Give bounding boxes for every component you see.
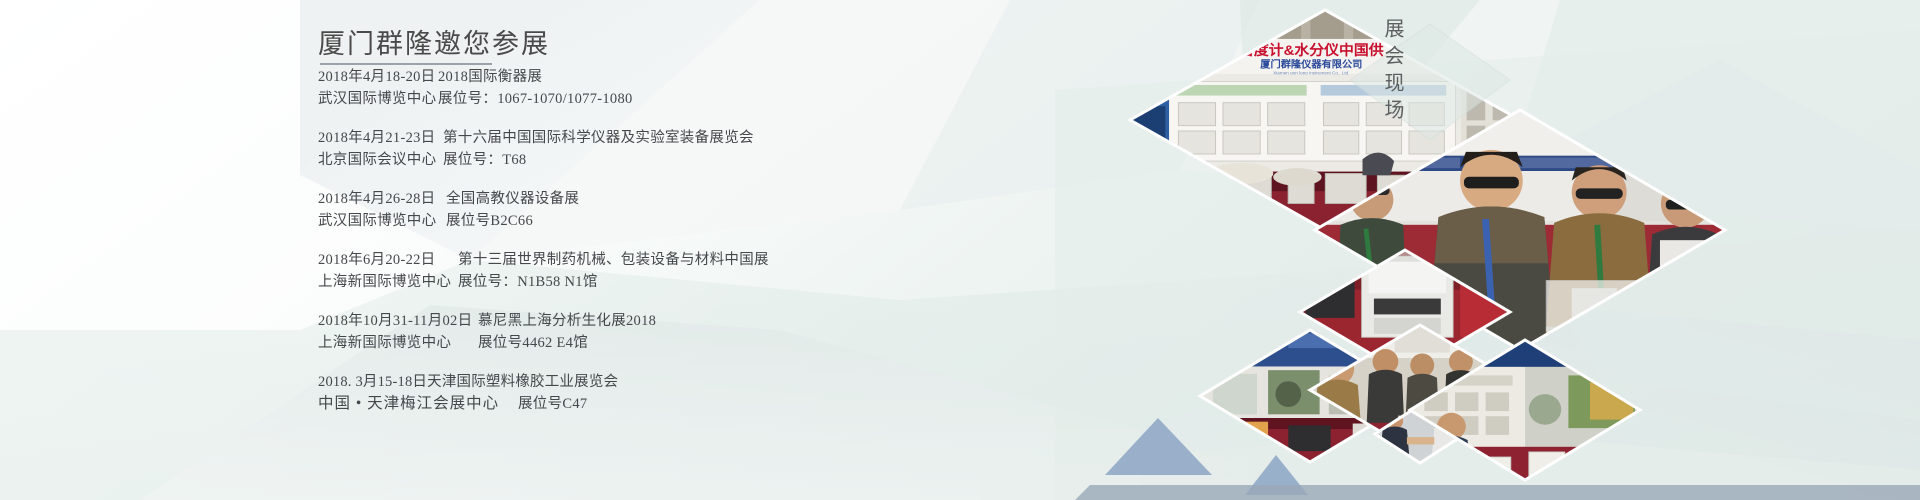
event-name: 2018国际衡器展	[438, 66, 542, 88]
event-date: 2018年10月31-11月02日	[318, 310, 478, 332]
event-date: 2018年4月21-23日	[318, 127, 443, 149]
event-name: 第十六届中国国际科学仪器及实验室装备展览会	[443, 127, 754, 149]
event-venue: 武汉国际博览中心	[318, 210, 446, 232]
event-venue: 上海新国际博览中心	[318, 271, 458, 293]
title-underline	[320, 63, 492, 65]
collage-vertical-label: 展会现场	[1378, 18, 1407, 126]
event-date: 2018年4月26-28日	[318, 188, 446, 210]
event-booth: 展位号：N1B58 N1馆	[458, 271, 598, 293]
event-booth: 展位号C47	[518, 393, 587, 415]
event-name: 慕尼黑上海分析生化展2018	[478, 310, 656, 332]
photo-collage: 展会现场 密度计&水分仪中国供	[1100, 0, 1920, 500]
event-date: 2018. 3月15-18日天津国际塑料橡胶工业展览会	[318, 371, 618, 393]
page-title: 厦门群隆邀您参展	[318, 22, 550, 61]
event-list: 2018年4月18-20日 2018国际衡器展 武汉国际博览中心 展位号：106…	[318, 66, 1078, 432]
list-item: 2018. 3月15-18日天津国际塑料橡胶工业展览会 中国 • 天津梅江会展中…	[318, 371, 1078, 415]
event-date: 2018年4月18-20日	[318, 66, 438, 88]
event-venue: 北京国际会议中心	[318, 149, 443, 171]
event-venue: 武汉国际博览中心	[318, 88, 438, 110]
invitation-panel: 厦门群隆邀您参展 2018年4月18-20日 2018国际衡器展 武汉国际博览中…	[0, 0, 1100, 500]
event-name: 全国高教仪器设备展	[446, 188, 579, 210]
list-item: 2018年4月18-20日 2018国际衡器展 武汉国际博览中心 展位号：106…	[318, 66, 1078, 110]
event-booth: 展位号：1067-1070/1077-1080	[438, 88, 633, 110]
event-booth: 展位号B2C66	[446, 210, 533, 232]
list-item: 2018年10月31-11月02日 慕尼黑上海分析生化展2018 上海新国际博览…	[318, 310, 1078, 354]
event-booth: 展位号：T68	[443, 149, 526, 171]
event-venue: 中国 • 天津梅江会展中心	[318, 393, 518, 415]
list-item: 2018年6月20-22日 第十三届世界制药机械、包装设备与材料中国展 上海新国…	[318, 249, 1078, 293]
event-venue: 上海新国际博览中心	[318, 332, 478, 354]
list-item: 2018年4月26-28日 全国高教仪器设备展 武汉国际博览中心 展位号B2C6…	[318, 188, 1078, 232]
event-booth: 展位号4462 E4馆	[478, 332, 588, 354]
list-item: 2018年4月21-23日 第十六届中国国际科学仪器及实验室装备展览会 北京国际…	[318, 127, 1078, 171]
event-date: 2018年6月20-22日	[318, 249, 458, 271]
event-name: 第十三届世界制药机械、包装设备与材料中国展	[458, 249, 769, 271]
collage-graphic: 密度计&水分仪中国供 厦门群隆仪器有限公司 Xiamen qun long in…	[1100, 0, 1920, 500]
